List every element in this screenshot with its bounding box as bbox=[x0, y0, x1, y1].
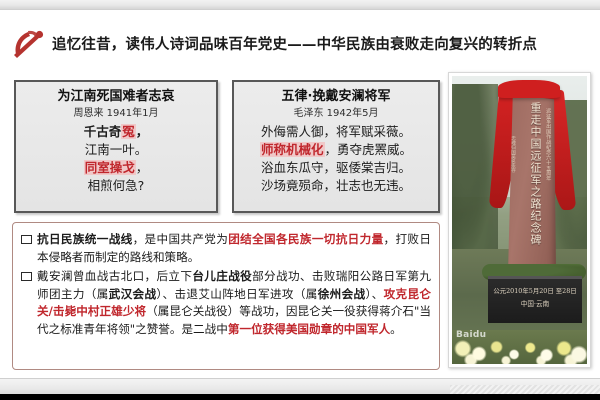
poem-card-left: 为江南死国难者志哀 周恩来 1941年1月 千古奇冤，江南一叶。同室操戈，相煎何… bbox=[14, 80, 218, 213]
list-item: 戴安澜曾血战古北口，后立下台儿庄战役部分战功、击败瑞阳公路日军第九师团主力（属武… bbox=[21, 268, 431, 338]
text-segment: 相煎何急? bbox=[88, 178, 145, 193]
text-segment: 冤 bbox=[121, 124, 136, 139]
page-title: 追忆往昔，读伟人诗词品味百年党史——中华民族由衰败走向复兴的转折点 bbox=[52, 33, 537, 54]
text-segment: 同室操戈 bbox=[84, 160, 136, 175]
text-segment: 师称机械化 bbox=[260, 142, 325, 157]
text-segment: ， bbox=[136, 160, 149, 175]
text-segment: 浴血东瓜守，驱倭棠吉归。 bbox=[261, 160, 411, 175]
photo-watermark: Baidu bbox=[456, 330, 486, 340]
poem-line: 师称机械化，勇夺虎罴威。 bbox=[240, 141, 432, 159]
poem-line: 千古奇冤， bbox=[22, 123, 210, 141]
stele-sub-inscription: 远征军出国作战纪念六十五周年 bbox=[545, 108, 551, 181]
bullet-text: 戴安澜曾血战古北口，后立下台儿庄战役部分战功、击败瑞阳公路日军第九师团主力（属武… bbox=[37, 268, 431, 338]
empty-checkbox-icon bbox=[21, 272, 32, 281]
poem-body: 外侮需人御，将军赋采薇。师称机械化，勇夺虎罴威。浴血东瓜守，驱倭棠吉归。沙场竟殒… bbox=[240, 123, 432, 195]
poem-title: 五律·挽戴安澜将军 bbox=[240, 89, 432, 105]
bullet-text: 抗日民族统一战线，是中国共产党为团结全国各民族一切抗日力量，打败日本侵略者而制定… bbox=[37, 231, 431, 266]
text-segment: ，勇夺虎罴威。 bbox=[325, 142, 413, 157]
text-segment: 。 bbox=[390, 322, 402, 336]
text-segment: 沙场竟殒命，壮志也无违。 bbox=[261, 178, 411, 193]
poem-body: 千古奇冤，江南一叶。同室操戈，相煎何急? bbox=[22, 123, 210, 195]
slide-viewer: 追忆往昔，读伟人诗词品味百年党史——中华民族由衰败走向复兴的转折点 为江南死国难… bbox=[0, 0, 600, 400]
text-segment: 台儿庄战役 bbox=[192, 269, 252, 283]
poem-line: 同室操戈， bbox=[22, 159, 210, 177]
text-segment: ，是中国共产党为 bbox=[133, 232, 229, 246]
text-segment: ， bbox=[136, 124, 149, 139]
text-segment: 戴安澜曾血战古北口，后立下 bbox=[37, 269, 192, 283]
poem-line: 相煎何急? bbox=[22, 177, 210, 195]
poem-line: 浴血东瓜守，驱倭棠吉归。 bbox=[240, 159, 432, 177]
viewer-bottom-bar bbox=[0, 378, 600, 395]
content-text-box: 抗日民族统一战线，是中国共产党为团结全国各民族一切抗日力量，打败日本侵略者而制定… bbox=[12, 222, 440, 370]
viewer-black-edge bbox=[0, 394, 600, 400]
red-sash-knot bbox=[498, 80, 560, 98]
text-segment: 第一位获得美国勋章的中国军人 bbox=[228, 322, 390, 336]
text-segment: 江南一叶。 bbox=[85, 142, 148, 157]
text-segment: 团结全国各民族一切抗日力量 bbox=[228, 232, 383, 246]
poem-line: 江南一叶。 bbox=[22, 141, 210, 159]
monument-photo: 重走中国远征军之路纪念碑 远征军出国作战纪念六十五周年 忠魂归国英名永存 公元2… bbox=[452, 76, 587, 364]
text-segment: 外侮需人御，将军赋采薇。 bbox=[261, 124, 411, 139]
stele-side-inscription: 忠魂归国英名永存 bbox=[510, 136, 516, 173]
slide-header: 追忆往昔，读伟人诗词品味百年党史——中华民族由衰败走向复兴的转折点 bbox=[8, 22, 592, 64]
plinth-place-text: 中国·云南 bbox=[490, 298, 580, 308]
viewer-top-bar bbox=[0, 0, 600, 10]
slide-canvas: 追忆往昔，读伟人诗词品味百年党史——中华民族由衰败走向复兴的转折点 为江南死国难… bbox=[0, 10, 600, 378]
monument-photo-frame: 重走中国远征军之路纪念碑 远征军出国作战纪念六十五周年 忠魂归国英名永存 公元2… bbox=[448, 72, 591, 368]
text-segment: ）、击退艾山阵地日军进攻（属 bbox=[156, 287, 317, 301]
text-segment: 徐州会战 bbox=[318, 287, 366, 301]
list-item: 抗日民族统一战线，是中国共产党为团结全国各民族一切抗日力量，打败日本侵略者而制定… bbox=[21, 231, 431, 266]
poem-line: 外侮需人御，将军赋采薇。 bbox=[240, 123, 432, 141]
plinth-date-text: 公元2010年5月20日 至28日 bbox=[490, 286, 580, 295]
poem-line: 沙场竟殒命，壮志也无违。 bbox=[240, 177, 432, 195]
poem-author: 毛泽东 1942年5月 bbox=[240, 107, 432, 121]
hammer-sickle-emblem-icon bbox=[8, 24, 48, 62]
poem-author: 周恩来 1941年1月 bbox=[22, 107, 210, 121]
text-segment: ）、 bbox=[366, 287, 384, 301]
poem-card-right: 五律·挽戴安澜将军 毛泽东 1942年5月 外侮需人御，将军赋采薇。师称机械化，… bbox=[232, 80, 440, 213]
text-segment: 抗日民族统一战线 bbox=[37, 232, 133, 246]
text-segment: 武汉会战 bbox=[109, 287, 157, 301]
poem-title: 为江南死国难者志哀 bbox=[22, 89, 210, 105]
text-segment: 千古奇 bbox=[84, 124, 122, 139]
empty-checkbox-icon bbox=[21, 235, 32, 244]
